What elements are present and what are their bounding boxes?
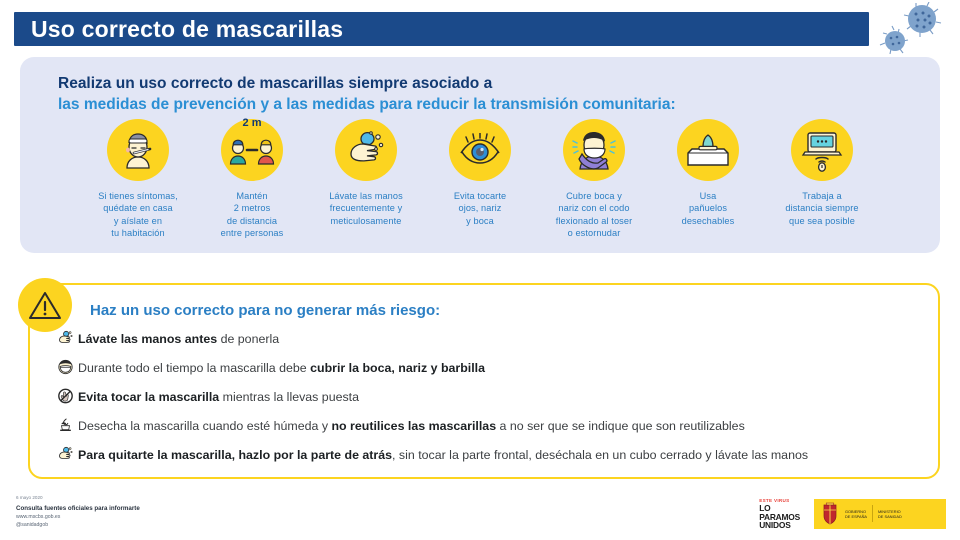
footer-handle[interactable]: @sanidadgob: [16, 521, 140, 529]
list-item-text: Evita tocar la mascarilla mientras la ll…: [78, 388, 359, 406]
list-item-bold: Para quitarte la mascarilla, hazlo por l…: [78, 448, 392, 462]
prevention-item-symptoms: Si tienes síntomas,quédate en casay aísl…: [82, 119, 194, 240]
government-logo: GOBIERNO DE ESPAÑA MINISTERIO DE SANIDAD: [814, 499, 946, 529]
prevention-caption: Lávate las manosfrecuentemente ymeticulo…: [329, 190, 403, 227]
list-item: Para quitarte la mascarilla, hazlo por l…: [52, 446, 932, 466]
prevention-caption: Evita tocarteojos, narizy boca: [454, 190, 506, 227]
prevention-panel: Realiza un uso correcto de mascarillas s…: [20, 57, 940, 253]
prevention-caption: Mantén2 metrosde distanciaentre personas: [221, 190, 284, 240]
panel-heading-line1: Realiza un uso correcto de mascarillas s…: [58, 73, 940, 94]
prevention-caption: Trabaja adistancia siempreque sea posibl…: [785, 190, 858, 227]
prevention-item-telework: Trabaja adistancia siempreque sea posibl…: [766, 119, 878, 240]
warning-badge: [18, 278, 72, 332]
page-title: Uso correcto de mascarillas: [14, 18, 343, 41]
prevention-caption: Cubre boca ynariz con el codoflexionado …: [556, 190, 632, 240]
warning-triangle-icon: [28, 290, 62, 321]
dispose-in-bin-icon: [52, 417, 78, 437]
sick-person-thermometer-icon: [116, 128, 160, 172]
header-bar: Uso correcto de mascarillas: [14, 12, 869, 46]
government-text: GOBIERNO DE ESPAÑA: [845, 509, 867, 519]
list-item-text: Durante todo el tiempo la mascarilla deb…: [78, 359, 485, 377]
list-item-bold: cubrir la boca, nariz y barbilla: [310, 361, 485, 375]
laptop-wifi-icon: [800, 128, 844, 172]
panel-heading-line2: las medidas de prevención y a las medida…: [58, 94, 940, 115]
prevention-item-wash-hands: Lávate las manosfrecuentemente ymeticulo…: [310, 119, 422, 240]
wash-hands-icon: [52, 330, 78, 350]
footer-sources: Consulta fuentes oficiales para informar…: [16, 505, 140, 513]
list-item-pre: Durante todo el tiempo la mascarilla deb…: [78, 361, 310, 375]
list-item-text: Desecha la mascarilla cuando esté húmeda…: [78, 417, 745, 435]
list-item-text: Para quitarte la mascarilla, hazlo por l…: [78, 446, 808, 464]
icon-circle: [791, 119, 853, 181]
list-item: Desecha la mascarilla cuando esté húmeda…: [52, 417, 932, 437]
footer-url[interactable]: www.mscbs.gob.es: [16, 513, 140, 521]
masked-face-icon: [52, 359, 78, 379]
icon-circle: [107, 119, 169, 181]
prevention-item-distance: 2 m Mantén2 metrosde distanciaen: [196, 119, 308, 240]
prevention-item-tissues: Usapañuelosdesechables: [652, 119, 764, 240]
prevention-caption: Si tienes síntomas,quédate en casay aísl…: [98, 190, 178, 240]
footer-logos: ESTE VIRUS LO PARAMOS UNIDOS GOBIERNO DE…: [759, 498, 946, 530]
list-item-pre: Desecha la mascarilla cuando esté húmeda…: [78, 419, 331, 433]
coat-of-arms-icon: [820, 502, 840, 526]
icon-circle: 2 m: [221, 119, 283, 181]
icon-circle: [563, 119, 625, 181]
panel-heading: Realiza un uso correcto de mascarillas s…: [20, 57, 940, 115]
list-item: Evita tocar la mascarilla mientras la ll…: [52, 388, 932, 408]
wash-hands-icon: [52, 446, 78, 466]
government-line2: DE ESPAÑA: [845, 514, 867, 519]
icon-circle: [677, 119, 739, 181]
cough-into-elbow-icon: [572, 129, 616, 171]
list-item-rest: a no ser que se indique que son reutiliz…: [496, 419, 745, 433]
list-item-rest: mientras la llevas puesta: [219, 390, 359, 404]
list-item-rest: , sin tocar la parte frontal, deséchala …: [392, 448, 808, 462]
list-item: Lávate las manos antes de ponerla: [52, 330, 932, 350]
infographic-page: Uso correcto de mascarillas: [0, 0, 960, 540]
distance-badge: 2 m: [243, 117, 262, 129]
footer-info: 6 mayo 2020 Consulta fuentes oficiales p…: [16, 494, 140, 529]
coronavirus-icon: [870, 2, 946, 54]
social-distance-two-people-icon: [228, 137, 276, 171]
prevention-item-avoid-touch-face: Evita tocarteojos, narizy boca: [424, 119, 536, 240]
footer-date: 6 mayo 2020: [16, 494, 140, 502]
wash-hands-soap-icon: [345, 129, 387, 171]
no-touch-prohibition-icon: [52, 388, 78, 408]
correct-use-title: Haz un uso correcto para no generar más …: [90, 302, 440, 319]
campaign-logo: ESTE VIRUS LO PARAMOS UNIDOS: [759, 498, 800, 530]
icon-circle: [335, 119, 397, 181]
list-item-bold: no reutilices las mascarillas: [331, 419, 496, 433]
eye-icon: [457, 133, 503, 167]
ministry-text: MINISTERIO DE SANIDAD: [878, 509, 902, 519]
prevention-item-cough-elbow: Cubre boca ynariz con el codoflexionado …: [538, 119, 650, 240]
prevention-icon-row: Si tienes síntomas,quédate en casay aísl…: [20, 119, 940, 240]
list-item-bold: Lávate las manos antes: [78, 332, 217, 346]
list-item-bold: Evita tocar la mascarilla: [78, 390, 219, 404]
prevention-caption: Usapañuelosdesechables: [682, 190, 735, 227]
ministry-line2: DE SANIDAD: [878, 514, 902, 519]
campaign-logo-line3: UNIDOS: [759, 521, 800, 530]
list-item-rest: de ponerla: [217, 332, 279, 346]
list-item: Durante todo el tiempo la mascarilla deb…: [52, 359, 932, 379]
tissue-box-icon: [686, 131, 730, 169]
correct-use-list: Lávate las manos antes de ponerla Durant…: [52, 330, 932, 475]
list-item-text: Lávate las manos antes de ponerla: [78, 330, 279, 348]
logo-divider: [872, 505, 873, 522]
icon-circle: [449, 119, 511, 181]
